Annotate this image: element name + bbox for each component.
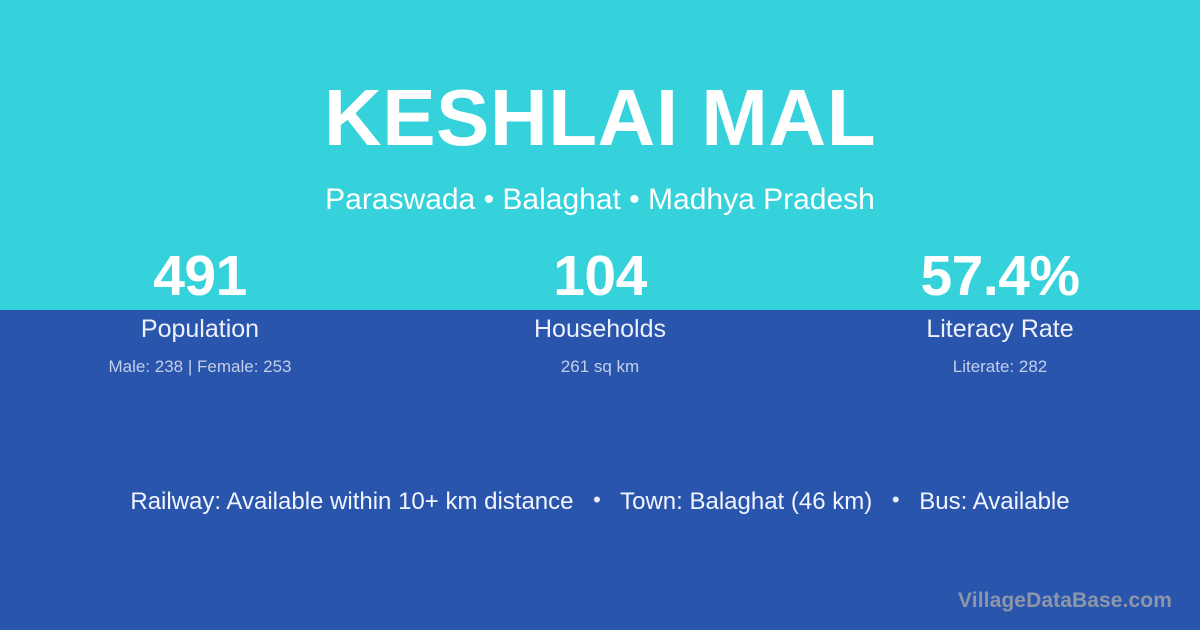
bullet-separator-icon: • bbox=[879, 484, 913, 516]
stat-label: Households bbox=[400, 314, 800, 344]
village-title: KESHLAI MAL bbox=[0, 78, 1200, 158]
stat-label: Population bbox=[0, 314, 400, 344]
stat-households: 104 Households 261 sq km bbox=[400, 243, 800, 378]
stat-value: 104 bbox=[400, 243, 800, 310]
infrastructure-line: Railway: Available within 10+ km distanc… bbox=[0, 484, 1200, 518]
village-location-subtitle: Paraswada • Balaghat • Madhya Pradesh bbox=[0, 182, 1200, 218]
stat-literacy-rate: 57.4% Literacy Rate Literate: 282 bbox=[800, 243, 1200, 378]
stat-population: 491 Population Male: 238 | Female: 253 bbox=[0, 243, 400, 378]
stats-row: 491 Population Male: 238 | Female: 253 1… bbox=[0, 243, 1200, 378]
stat-value: 57.4% bbox=[800, 243, 1200, 310]
stat-value: 491 bbox=[0, 243, 400, 310]
infra-town: Town: Balaghat (46 km) bbox=[620, 488, 872, 515]
stat-sub: Male: 238 | Female: 253 bbox=[0, 356, 400, 378]
village-info-card: KESHLAI MAL Paraswada • Balaghat • Madhy… bbox=[0, 0, 1200, 630]
stat-label: Literacy Rate bbox=[800, 314, 1200, 344]
infra-bus: Bus: Available bbox=[919, 488, 1069, 515]
bullet-separator-icon: • bbox=[580, 484, 614, 516]
stat-sub: Literate: 282 bbox=[800, 356, 1200, 378]
site-brand-watermark: VillageDataBase.com bbox=[958, 588, 1172, 614]
infra-railway: Railway: Available within 10+ km distanc… bbox=[130, 488, 573, 515]
stat-sub: 261 sq km bbox=[400, 356, 800, 378]
